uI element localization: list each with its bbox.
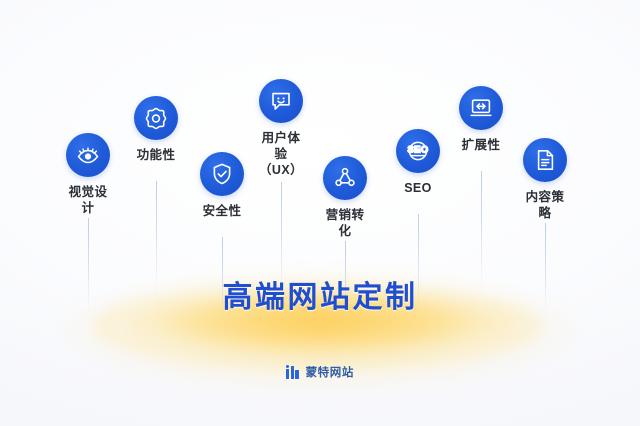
node-label-content-strategy: 内容策略 [523, 189, 567, 221]
brand-footer: 蒙特网站 [0, 364, 640, 380]
node-label-seo: SEO [404, 180, 432, 196]
gear-icon [143, 105, 169, 131]
brand-logo-icon [286, 365, 299, 379]
node-content-strategy[interactable]: 内容策略 [523, 138, 567, 221]
svg-text:SEO: SEO [408, 145, 429, 156]
monitor-expand-icon [468, 95, 494, 121]
share-nodes-icon [332, 165, 358, 191]
icon-bubble-functionality [134, 96, 178, 140]
icon-bubble-marketing-conversion [323, 156, 367, 200]
icon-bubble-scalability [459, 86, 503, 130]
node-label-scalability: 扩展性 [462, 137, 501, 153]
icon-bubble-seo: SEO [396, 129, 440, 173]
node-seo[interactable]: SEO SEO [396, 129, 440, 196]
document-icon [532, 147, 558, 173]
icon-bubble-security [200, 152, 244, 196]
node-scalability[interactable]: 扩展性 [459, 86, 503, 153]
shield-check-icon [209, 161, 235, 187]
node-functionality[interactable]: 功能性 [134, 96, 178, 163]
icon-bubble-visual-design [66, 133, 110, 177]
brand-logo-text: 蒙特网站 [306, 364, 354, 380]
node-security[interactable]: 安全性 [200, 152, 244, 219]
node-visual-design[interactable]: 视觉设计 [66, 133, 110, 216]
infographic-canvas: 视觉设计 功能性 安全性 [0, 0, 640, 426]
node-label-user-experience: 用户体验 （UX） [259, 130, 303, 178]
node-label-functionality: 功能性 [137, 147, 176, 163]
node-user-experience[interactable]: 用户体验 （UX） [259, 79, 303, 178]
icon-bubble-content-strategy [523, 138, 567, 182]
seo-circle-icon: SEO [405, 138, 431, 164]
page-title: 高端网站定制 [0, 272, 640, 316]
chat-smile-icon [268, 88, 294, 114]
node-label-security: 安全性 [203, 203, 242, 219]
eye-icon [75, 142, 101, 168]
node-label-marketing-conversion: 营销转化 [323, 207, 367, 239]
node-label-visual-design: 视觉设计 [66, 184, 110, 216]
node-marketing-conversion[interactable]: 营销转化 [323, 156, 367, 239]
icon-bubble-user-experience [259, 79, 303, 123]
